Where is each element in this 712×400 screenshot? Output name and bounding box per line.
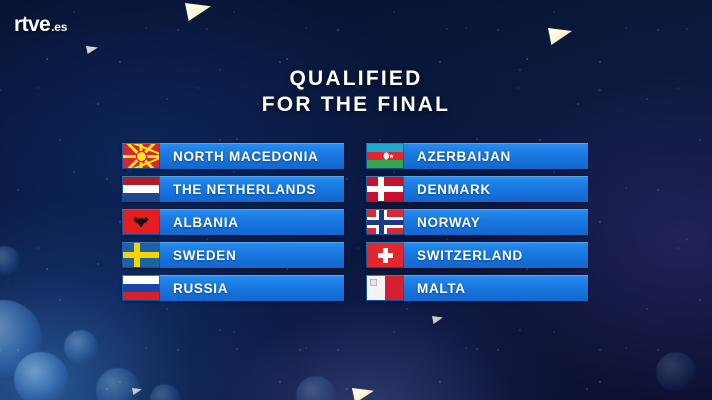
flag-norway-icon <box>367 210 403 234</box>
rtve-logo: rtve .es <box>14 14 67 35</box>
light-particle <box>185 3 211 21</box>
qualifier-country-name: MALTA <box>417 281 466 296</box>
bokeh-blob <box>0 246 20 276</box>
flag-north-macedonia-icon <box>123 144 159 168</box>
qualifier-row: DENMARK <box>366 176 588 202</box>
qualifier-row: SWITZERLAND <box>366 242 588 268</box>
qualifier-country-name: NORTH MACEDONIA <box>173 149 319 164</box>
qualifier-country-name: THE NETHERLANDS <box>173 182 316 197</box>
qualifier-row: NORTH MACEDONIA <box>122 143 344 169</box>
light-particle <box>352 388 374 400</box>
bokeh-blob <box>0 300 42 378</box>
qualifier-row: NORWAY <box>366 209 588 235</box>
bokeh-blob <box>14 352 68 400</box>
flag-russia-icon <box>123 276 159 300</box>
qualifier-country-name: RUSSIA <box>173 281 228 296</box>
qualifiers-grid: NORTH MACEDONIA AZERBAIJAN THE NETHERLAN… <box>122 143 588 301</box>
bokeh-blob <box>150 384 180 400</box>
qualifier-row: RUSSIA <box>122 275 344 301</box>
qualifier-row: SWEDEN <box>122 242 344 268</box>
page-title: QUALIFIED FOR THE FINAL <box>0 66 712 118</box>
flag-albania-icon <box>123 210 159 234</box>
qualifier-row: ALBANIA <box>122 209 344 235</box>
light-particle <box>548 28 572 45</box>
flag-sweden-icon <box>123 243 159 267</box>
qualifier-country-name: SWITZERLAND <box>417 248 523 263</box>
bokeh-blob <box>64 330 98 364</box>
qualifier-row: AZERBAIJAN <box>366 143 588 169</box>
qualifier-country-name: ALBANIA <box>173 215 239 230</box>
qualifier-row: THE NETHERLANDS <box>122 176 344 202</box>
bokeh-blob <box>656 352 696 392</box>
qualifier-country-name: AZERBAIJAN <box>417 149 511 164</box>
qualifier-row: MALTA <box>366 275 588 301</box>
flag-azerbaijan-icon <box>367 144 403 168</box>
rtve-logo-tld: .es <box>51 21 67 33</box>
page-title-line-2: FOR THE FINAL <box>0 92 712 118</box>
bokeh-blob <box>96 368 140 400</box>
qualifier-country-name: DENMARK <box>417 182 491 197</box>
light-particle <box>86 46 98 54</box>
flag-denmark-icon <box>367 177 403 201</box>
light-particle <box>432 316 443 324</box>
qualifier-country-name: NORWAY <box>417 215 480 230</box>
broadcast-graphic: rtve .es QUALIFIED FOR THE FINAL NORTH M… <box>0 0 712 400</box>
flag-netherlands-icon <box>123 177 159 201</box>
qualifier-country-name: SWEDEN <box>173 248 236 263</box>
bokeh-blob <box>296 376 336 400</box>
flag-malta-icon <box>367 276 403 300</box>
flag-switzerland-icon <box>367 243 403 267</box>
page-title-line-1: QUALIFIED <box>0 66 712 92</box>
rtve-logo-mark: rtve <box>14 14 50 35</box>
light-particle <box>132 388 142 395</box>
